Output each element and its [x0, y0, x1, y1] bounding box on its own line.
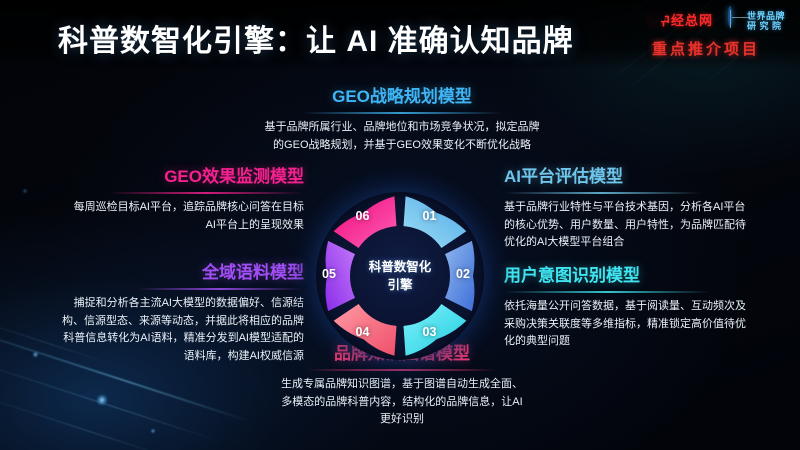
block-divider — [302, 112, 502, 114]
logo-row: 中经总网 世界品牌 研 究 院 — [620, 6, 792, 36]
wheel-segment-label-03: 03 — [423, 325, 437, 339]
glow-dot — [96, 394, 108, 406]
glow-dot — [150, 428, 156, 434]
wheel-segment-label-04: 04 — [356, 325, 370, 339]
block-divider — [504, 192, 700, 194]
block-user-intent: 用户意图识别模型 依托海量公开问答数据，基于阅读量、互动频次及采购决策关联度等多… — [504, 265, 756, 351]
engine-wheel-diagram: 科普数智化 引擎 010203040506 — [316, 192, 484, 360]
brand-name-wbri: 世界品牌 研 究 院 — [747, 11, 785, 31]
block-divider — [108, 192, 304, 194]
block-heading: 用户意图识别模型 — [504, 265, 756, 287]
slide-canvas: 科普数智化引擎：让 AI 准确认知品牌 中经总网 世界品牌 研 究 院 重点推介… — [0, 0, 800, 450]
logo-group: 中经总网 世界品牌 研 究 院 重点推介项目 — [620, 6, 792, 60]
block-heading: GEO效果监测模型 — [72, 166, 304, 188]
block-heading: GEO战略规划模型 — [262, 86, 542, 108]
block-geo-strategy: GEO战略规划模型 基于品牌所属行业、品牌地位和市场竞争状况，拟定品牌的GEO战… — [262, 86, 542, 154]
wheel-segment-label-05: 05 — [322, 267, 336, 281]
block-divider — [136, 288, 304, 290]
wheel-center-line1: 科普数智化 — [369, 258, 432, 276]
streak-line — [0, 387, 175, 450]
block-heading: 全域语料模型 — [62, 262, 304, 284]
glow-dot — [22, 188, 28, 194]
block-corpus: 全域语料模型 捕捉和分析各主流AI大模型的数据偏好、信源结构、信源型态、来源等动… — [62, 262, 304, 365]
block-body: 基于品牌所属行业、品牌地位和市场竞争状况，拟定品牌的GEO战略规划，并基于GEO… — [262, 119, 542, 154]
c-logo-icon — [627, 8, 653, 34]
block-divider — [504, 291, 710, 293]
streak-line — [0, 352, 223, 443]
block-body: 捕捉和分析各主流AI大模型的数据偏好、信源结构、信源型态、来源等动态，并据此将相… — [62, 295, 304, 365]
block-heading: AI平台评估模型 — [504, 166, 752, 188]
page-title: 科普数智化引擎：让 AI 准确认知品牌 — [58, 16, 574, 60]
brand-name-wbri-line2: 研 究 院 — [747, 21, 782, 31]
logo-tagline: 重点推介项目 — [620, 38, 792, 59]
wheel-hub: 科普数智化 引擎 — [350, 226, 450, 326]
block-geo-monitor: GEO效果监测模型 每周巡检目标AI平台，追踪品牌核心问答在目标AI平台上的呈现… — [72, 166, 304, 234]
block-body: 每周巡检目标AI平台，追踪品牌核心问答在目标AI平台上的呈现效果 — [72, 199, 304, 234]
block-body: 依托海量公开问答数据，基于阅读量、互动频次及采购决策关联度等多维指标，精准锁定高… — [504, 298, 756, 351]
wheel-segment-label-02: 02 — [456, 267, 470, 281]
globe-icon — [717, 8, 743, 34]
glow-dot — [32, 351, 39, 358]
slide-header: 科普数智化引擎：让 AI 准确认知品牌 中经总网 世界品牌 研 究 院 重点推介… — [0, 0, 800, 70]
block-ai-platform-eval: AI平台评估模型 基于品牌行业特性与平台技术基因，分析各AI平台的核心优势、用户… — [504, 166, 752, 252]
wheel-center-line2: 引擎 — [387, 276, 412, 294]
wheel-segment-label-06: 06 — [356, 209, 370, 223]
wheel-segment-label-01: 01 — [423, 209, 437, 223]
block-body: 基于品牌行业特性与平台技术基因，分析各AI平台的核心优势、用户数量、用户特性，为… — [504, 199, 752, 252]
brand-name-wbri-line1: 世界品牌 — [747, 11, 785, 21]
